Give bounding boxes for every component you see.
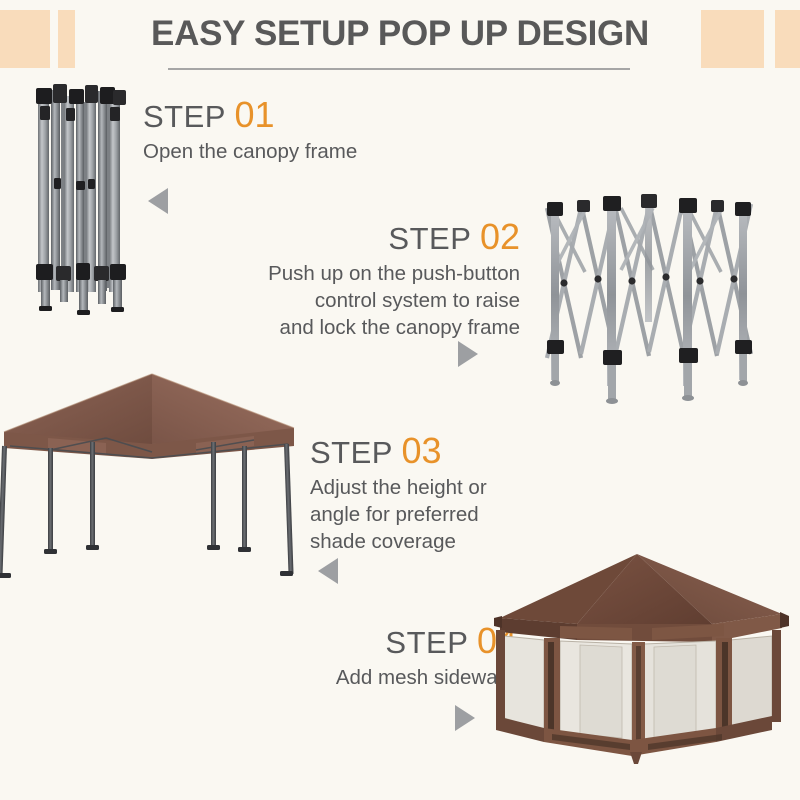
step-03-description-line-2: angle for preferred: [310, 501, 487, 528]
step-03-description-line-3: shade coverage: [310, 528, 487, 555]
arrow-left-icon-step-03: [318, 558, 338, 584]
step-03-text: STEP 03 Adjust the height or angle for p…: [310, 432, 487, 555]
step-01-text: STEP 01 Open the canopy frame: [143, 96, 357, 165]
step-01-heading: STEP 01: [143, 96, 357, 134]
title-underline-rule: [168, 68, 630, 70]
step-02-description-line-3: and lock the canopy frame: [198, 314, 520, 341]
step-02-heading: STEP 02: [198, 218, 520, 256]
image-expanded-scissor-frame: [533, 180, 783, 410]
step-03-label: STEP: [310, 435, 392, 470]
step-03-description-line-1: Adjust the height or: [310, 474, 487, 501]
infographic-page: EASY SETUP POP UP DESIGN: [0, 0, 800, 800]
step-03-description: Adjust the height or angle for preferred…: [310, 474, 487, 555]
arrow-right-icon-step-04: [455, 705, 475, 731]
image-hexagonal-mesh-gazebo: [482, 548, 800, 798]
page-title: EASY SETUP POP UP DESIGN: [0, 14, 800, 54]
step-02-label: STEP: [388, 221, 470, 256]
step-02-number: 02: [480, 216, 520, 257]
step-01-number: 01: [235, 94, 275, 135]
step-02-description-line-1: Push up on the push-button: [198, 260, 520, 287]
arrow-right-icon-step-02: [458, 341, 478, 367]
step-02-description-line-2: control system to raise: [198, 287, 520, 314]
image-assembled-canopy: [0, 366, 296, 618]
step-02-description: Push up on the push-button control syste…: [198, 260, 520, 341]
step-01-label: STEP: [143, 99, 225, 134]
step-03-heading: STEP 03: [310, 432, 487, 470]
step-01-description: Open the canopy frame: [143, 138, 357, 165]
step-03-number: 03: [402, 430, 442, 471]
step-04-label: STEP: [385, 625, 467, 660]
arrow-left-icon-step-01: [148, 188, 168, 214]
image-folded-canopy-frame: [24, 78, 144, 316]
step-02-text: STEP 02 Push up on the push-button contr…: [198, 218, 520, 341]
